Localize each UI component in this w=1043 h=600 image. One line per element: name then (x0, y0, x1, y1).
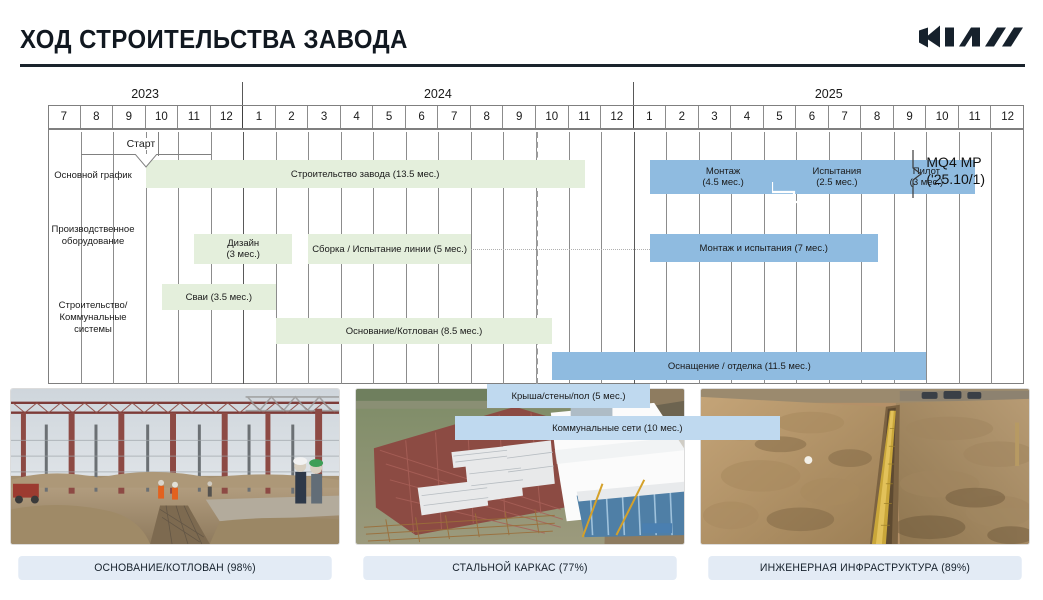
month-header-2023-12: 12 (211, 106, 244, 128)
gantt-bar-label: Коммунальные сети (10 мес.) (552, 423, 683, 434)
month-header-2023-9: 9 (113, 106, 146, 128)
milestone-marker: MQ4 MP('25.10/1) (48, 132, 1024, 252)
month-header-2024-11: 11 (569, 106, 602, 128)
month-header-2024-9: 9 (503, 106, 536, 128)
month-header-2025-4: 4 (731, 106, 764, 128)
month-header-2023-8: 8 (81, 106, 114, 128)
year-header-2024: 2024 (243, 82, 633, 105)
gantt-bar[interactable]: Сваи (3.5 мес.) (162, 284, 276, 310)
photo-caption-2: СТАЛЬНОЙ КАРКАС (77%) (363, 556, 677, 580)
month-header-2024-6: 6 (406, 106, 439, 128)
utility-trench-photo (700, 388, 1030, 545)
slide-header: ХОД СТРОИТЕЛЬСТВА ЗАВОДА (0, 0, 1043, 68)
month-header-2023-10: 10 (146, 106, 179, 128)
milestone-brace-icon (910, 150, 924, 198)
gantt-bar[interactable]: Коммунальные сети (10 мес.) (455, 416, 780, 440)
month-header-2024-12: 12 (601, 106, 634, 128)
month-header-2025-1: 1 (634, 106, 667, 128)
month-header-2024-8: 8 (471, 106, 504, 128)
month-header-2023-11: 11 (178, 106, 211, 128)
month-header-2025-12: 12 (991, 106, 1024, 128)
slide-root: ХОД СТРОИТЕЛЬСТВА ЗАВОДА 202320242025 78… (0, 0, 1043, 600)
month-header-2023-7: 7 (48, 106, 81, 128)
gantt-bar-label: Основание/Котлован (8.5 мес.) (346, 326, 483, 337)
row-label-line: системы (47, 324, 139, 336)
foundation-excavation-photo (10, 388, 340, 545)
row-label-line: Коммунальные (47, 312, 139, 324)
kia-logo (917, 22, 1025, 52)
month-header-2025-5: 5 (764, 106, 797, 128)
gantt-bar[interactable]: Основание/Котлован (8.5 мес.) (276, 318, 553, 344)
milestone-label: MQ4 MP('25.10/1) (926, 154, 985, 188)
gantt-chart: 202320242025 789101112123456789101112123… (48, 82, 1024, 384)
year-header-2025: 2025 (634, 82, 1024, 105)
month-header-2025-6: 6 (796, 106, 829, 128)
milestone-label-line1: MQ4 MP (926, 154, 985, 171)
month-header-2024-3: 3 (308, 106, 341, 128)
month-header-2025-11: 11 (959, 106, 992, 128)
month-header-2024-1: 1 (243, 106, 276, 128)
title-divider (20, 64, 1025, 67)
month-header-2025-9: 9 (894, 106, 927, 128)
photo-block-2: СТАЛЬНОЙ КАРКАС (77%) (355, 388, 685, 545)
month-header-2024-4: 4 (341, 106, 374, 128)
gantt-bar-label: Оснащение / отделка (11.5 мес.) (668, 361, 811, 372)
milestone-label-line2: ('25.10/1) (926, 171, 985, 188)
gantt-bar[interactable]: Крыша/стены/пол (5 мес.) (487, 384, 650, 408)
page-title: ХОД СТРОИТЕЛЬСТВА ЗАВОДА (20, 24, 408, 55)
month-header-2024-2: 2 (276, 106, 309, 128)
row-label-line: Строительство/ (47, 300, 139, 312)
photo-block-3: ИНЖЕНЕРНАЯ ИНФРАСТРУКТУРА (89%) (700, 388, 1030, 545)
month-header-2024-5: 5 (373, 106, 406, 128)
steel-frame-aerial-photo (355, 388, 685, 545)
month-header-2025-8: 8 (861, 106, 894, 128)
month-header-2025-2: 2 (666, 106, 699, 128)
gantt-bar-label: Крыша/стены/пол (5 мес.) (511, 391, 625, 402)
gantt-row-label-2: Строительство/Коммунальныесистемы (47, 300, 139, 336)
month-header-2025-10: 10 (926, 106, 959, 128)
year-header-2023: 2023 (48, 82, 243, 105)
month-header-2024-10: 10 (536, 106, 569, 128)
month-header-2025-3: 3 (699, 106, 732, 128)
photo-caption-1: ОСНОВАНИЕ/КОТЛОВАН (98%) (18, 556, 332, 580)
photo-caption-3: ИНЖЕНЕРНАЯ ИНФРАСТРУКТУРА (89%) (708, 556, 1022, 580)
month-header-2024-7: 7 (438, 106, 471, 128)
gantt-body: Основной графикСтроительство завода (13.… (48, 132, 1024, 384)
gantt-year-header: 202320242025 (48, 82, 1024, 105)
gantt-month-header: 789101112123456789101112123456789101112 (48, 105, 1024, 130)
photo-block-1: ОСНОВАНИЕ/КОТЛОВАН (98%) (10, 388, 340, 545)
gantt-bar-label: Сваи (3.5 мес.) (186, 292, 252, 303)
gantt-bar[interactable]: Оснащение / отделка (11.5 мес.) (552, 352, 926, 380)
month-header-2025-7: 7 (829, 106, 862, 128)
